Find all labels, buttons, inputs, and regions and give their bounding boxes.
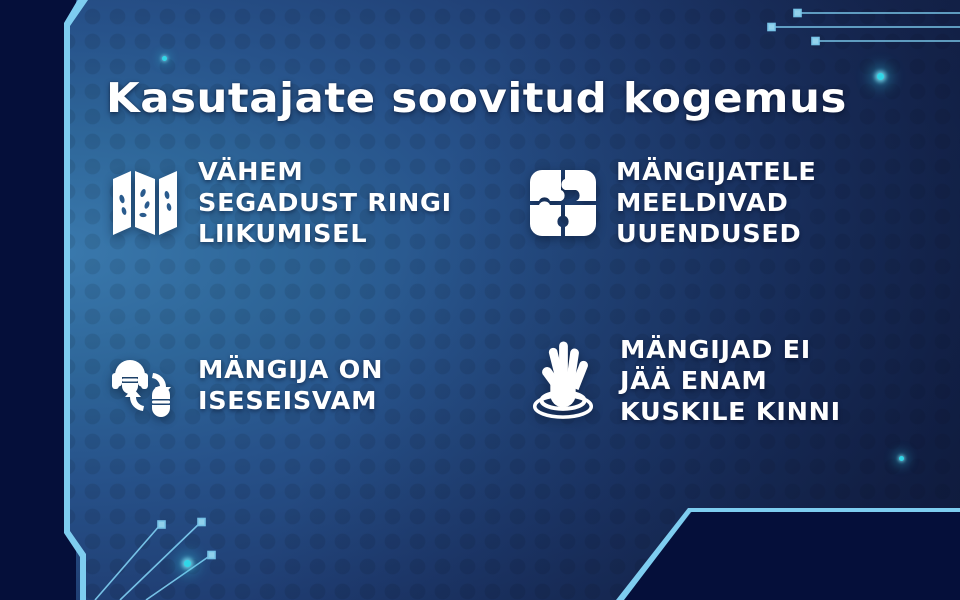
slide-canvas: Kasutajate soovitud kogemus <box>0 0 960 600</box>
player-handoff-headset-icon <box>108 348 180 422</box>
feature-item-less-confusion: VÄHEM SEGADUST RINGI LIIKUMISEL <box>110 156 447 249</box>
feature-item-no-longer-stuck: MÄNGIJAD EI JÄÄ ENAM KUSKILE KINNI <box>524 334 837 427</box>
feature-label: MÄNGIJATELE MEELDIVAD UUENDUSED <box>616 156 816 249</box>
feature-item-liked-updates: MÄNGIJATELE MEELDIVAD UUENDUSED <box>528 156 813 249</box>
sinking-hand-icon <box>524 338 602 424</box>
feature-label: MÄNGIJAD EI JÄÄ ENAM KUSKILE KINNI <box>620 334 841 427</box>
feature-list: VÄHEM SEGADUST RINGI LIIKUMISEL <box>0 0 960 600</box>
feature-item-more-independent: MÄNGIJA ON ISESEISVAM <box>108 348 380 422</box>
feature-label: MÄNGIJA ON ISESEISVAM <box>198 354 383 416</box>
puzzle-pieces-icon <box>528 163 598 243</box>
folded-map-icon <box>110 163 180 243</box>
feature-label: VÄHEM SEGADUST RINGI LIIKUMISEL <box>198 156 452 249</box>
